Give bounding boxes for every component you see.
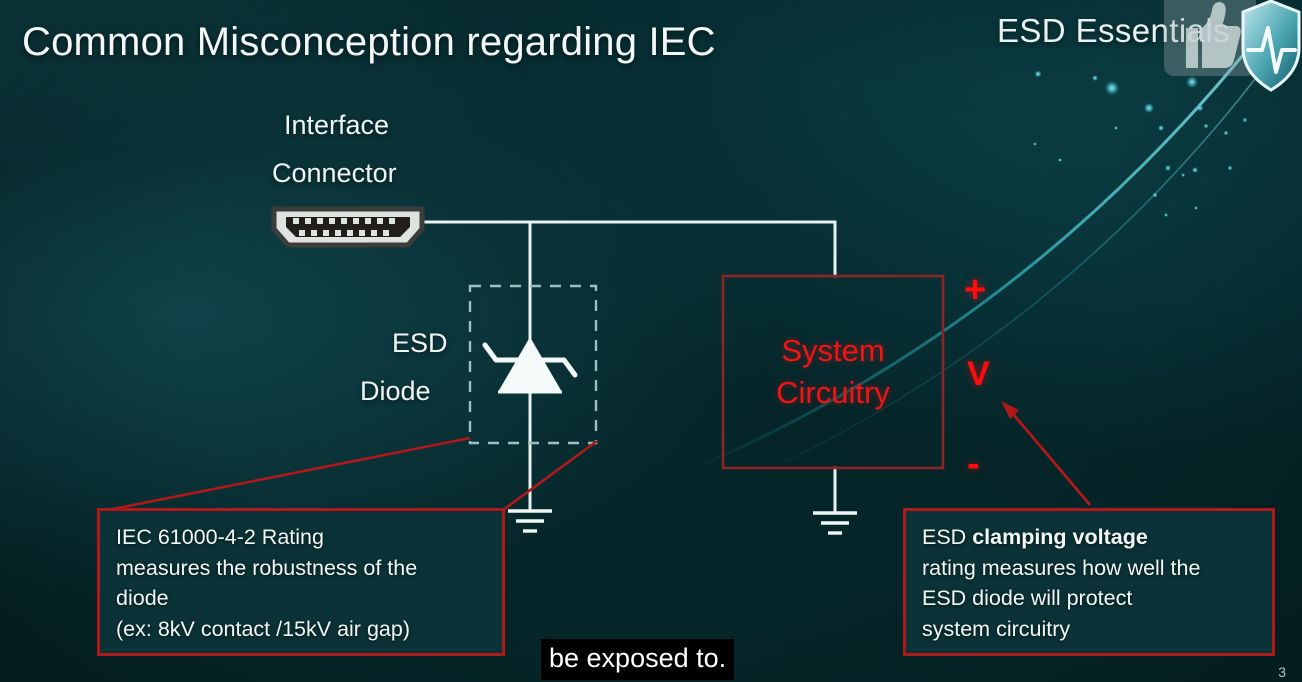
callout-iec-rating: IEC 61000-4-2 Rating measures the robust…	[97, 508, 505, 656]
system-circuitry-box	[723, 276, 943, 468]
polarity-plus: +	[964, 269, 986, 312]
zener-diode-icon	[485, 337, 575, 392]
label-connector: Connector	[272, 158, 397, 189]
subtitle-caption: be exposed to.	[541, 639, 734, 680]
callout-left-line2: measures the robustness of the	[116, 553, 488, 584]
slide-canvas: Common Misconception regarding IEC ESD E…	[0, 0, 1302, 682]
page-number: 3	[1278, 664, 1286, 680]
left-callout-leader	[98, 438, 597, 512]
callout-right-lead: ESD	[922, 525, 972, 549]
label-diode: Diode	[360, 376, 431, 407]
polarity-minus: -	[967, 443, 980, 486]
right-callout-arrow	[1001, 401, 1090, 505]
callout-right-line4: system circuitry	[922, 614, 1258, 645]
label-esd: ESD	[392, 328, 448, 359]
label-interface: Interface	[284, 110, 389, 141]
callout-clamping-voltage: ESD clamping voltage rating measures how…	[903, 508, 1275, 656]
callout-left-line4: (ex: 8kV contact /15kV air gap)	[116, 614, 488, 645]
callout-left-line1: IEC 61000-4-2 Rating	[116, 522, 488, 553]
ground-symbol-icon-2	[813, 513, 857, 533]
callout-right-line1: ESD clamping voltage	[922, 522, 1258, 553]
ground-symbol-icon	[508, 511, 552, 531]
callout-right-bold: clamping voltage	[972, 525, 1148, 549]
hdmi-connector-icon	[268, 203, 428, 251]
polarity-voltage: V	[967, 355, 990, 394]
callout-right-line3: ESD diode will protect	[922, 583, 1258, 614]
callout-left-line3: diode	[116, 583, 488, 614]
callout-right-line2: rating measures how well the	[922, 553, 1258, 584]
